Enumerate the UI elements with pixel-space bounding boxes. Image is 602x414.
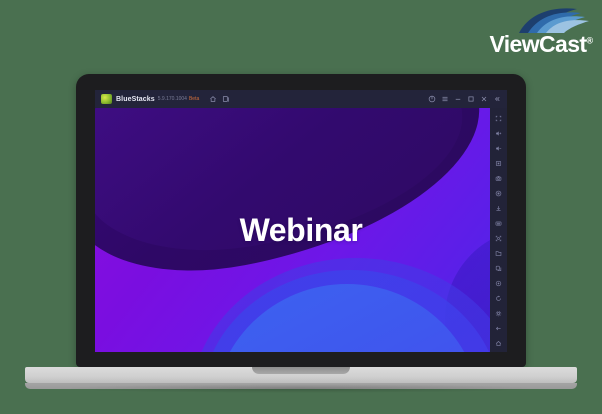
hamburger-menu-icon[interactable]: [438, 93, 451, 106]
macro-recorder-icon[interactable]: [491, 216, 506, 231]
viewcast-trademark: ®: [587, 35, 593, 45]
laptop-lid: BlueStacks 5.9.170.1004 Beta: [76, 74, 526, 367]
media-manager-icon[interactable]: [491, 246, 506, 261]
bluestacks-app-name: BlueStacks: [116, 96, 155, 103]
minimize-icon[interactable]: [451, 93, 464, 106]
maximize-icon[interactable]: [464, 93, 477, 106]
viewcast-wordmark-text: ViewCast: [489, 31, 586, 57]
bluestacks-version-label: 5.9.170.1004: [158, 96, 187, 102]
viewcast-logo: ViewCast®: [487, 6, 595, 58]
laptop-mockup: BlueStacks 5.9.170.1004 Beta: [0, 62, 602, 392]
collapse-left-icon[interactable]: [490, 93, 503, 106]
home-icon[interactable]: [206, 93, 219, 106]
back-icon[interactable]: [491, 321, 506, 336]
bluestacks-sidebar: [490, 108, 507, 352]
laptop-shadow: [60, 384, 540, 393]
wallpaper-title-text: Webinar: [95, 108, 507, 352]
close-icon[interactable]: [477, 93, 490, 106]
record-screen-icon[interactable]: [491, 186, 506, 201]
rotate-icon[interactable]: [491, 291, 506, 306]
settings-gear-icon[interactable]: [491, 306, 506, 321]
screenshot-icon[interactable]: [491, 156, 506, 171]
bluestacks-beta-badge: Beta: [189, 96, 199, 102]
laptop-notch: [252, 367, 350, 374]
laptop-screen: BlueStacks 5.9.170.1004 Beta: [95, 90, 507, 352]
volume-up-icon[interactable]: [491, 126, 506, 141]
keymapping-icon[interactable]: [491, 231, 506, 246]
home-nav-icon[interactable]: [491, 336, 506, 351]
bluestacks-app-content: Webinar: [95, 108, 507, 352]
recent-apps-icon[interactable]: [491, 351, 506, 352]
viewcast-wordmark: ViewCast®: [487, 31, 595, 58]
install-apk-icon[interactable]: [491, 201, 506, 216]
info-icon[interactable]: [425, 93, 438, 106]
location-icon[interactable]: [491, 276, 506, 291]
volume-down-icon[interactable]: [491, 141, 506, 156]
fullscreen-icon[interactable]: [491, 111, 506, 126]
bluestacks-titlebar: BlueStacks 5.9.170.1004 Beta: [95, 90, 507, 108]
multi-instance-icon[interactable]: [219, 93, 232, 106]
camera-icon[interactable]: [491, 171, 506, 186]
bluestacks-logo-icon: [101, 94, 112, 104]
copy-to-clipboard-icon[interactable]: [491, 261, 506, 276]
